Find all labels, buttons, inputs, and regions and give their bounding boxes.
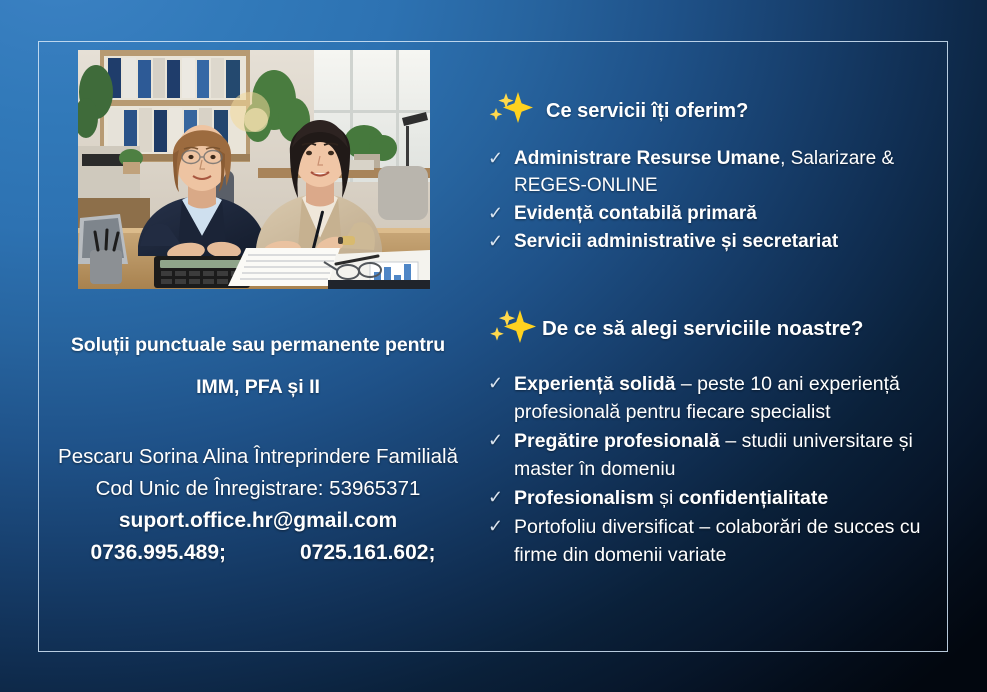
bullet-text: Servicii administrative și secretariat	[514, 228, 948, 255]
company-name: Pescaru Sorina Alina Întreprindere Famil…	[38, 441, 478, 473]
bullet-bold-2: confidențialitate	[679, 487, 829, 509]
services-heading-row: Ce servicii îți oferim?	[488, 91, 948, 131]
bullet-text: Experiență solidă – peste 10 ani experie…	[514, 370, 948, 426]
services-section: Ce servicii îți oferim? ✓ Administrare R…	[488, 91, 948, 256]
bullet-regular: Portofoliu diversificat – colaborări de …	[514, 516, 920, 566]
list-item: ✓ Profesionalism și confidențialitate	[488, 484, 948, 512]
check-icon: ✓	[488, 228, 505, 255]
why-heading-row: De ce să alegi serviciile noastre?	[488, 306, 948, 352]
services-heading-text: Ce servicii îți oferim?	[546, 100, 748, 123]
phone-number-2[interactable]: 0725.161.602;	[300, 537, 435, 569]
bullet-bold: Pregătire profesională	[514, 430, 720, 452]
bullet-text: Portofoliu diversificat – colaborări de …	[514, 513, 948, 569]
sparkles-icon	[488, 306, 540, 352]
why-heading-text: De ce să alegi serviciile noastre?	[542, 317, 863, 341]
bullet-text: Pregătire profesională – studii universi…	[514, 427, 948, 483]
bullet-bold: Administrare Resurse Umane	[514, 148, 780, 169]
check-icon: ✓	[488, 370, 505, 397]
right-column: Ce servicii îți oferim? ✓ Administrare R…	[488, 41, 948, 652]
bullet-text: Evidență contabilă primară	[514, 200, 948, 227]
bullet-text: Profesionalism și confidențialitate	[514, 484, 948, 512]
slide-canvas: Soluții punctuale sau permanente pentru …	[0, 0, 987, 692]
list-item: ✓ Evidență contabilă primară	[488, 200, 948, 227]
check-icon: ✓	[488, 145, 505, 172]
bullet-mid: și	[654, 487, 679, 509]
tagline-line-1: Soluții punctuale sau permanente pentru	[38, 334, 478, 357]
list-item: ✓ Administrare Resurse Umane, Salarizare…	[488, 145, 948, 199]
why-choose-section: De ce să alegi serviciile noastre? ✓ Exp…	[488, 306, 948, 570]
bullet-bold: Servicii administrative și secretariat	[514, 231, 838, 252]
left-column: Soluții punctuale sau permanente pentru …	[38, 41, 478, 652]
tagline-line-2: IMM, PFA și II	[38, 376, 478, 399]
registration-number: Cod Unic de Înregistrare: 53965371	[38, 473, 478, 505]
bullet-bold: Evidență contabilă primară	[514, 203, 757, 224]
sparkles-icon	[488, 91, 540, 131]
list-item: ✓ Pregătire profesională – studii univer…	[488, 427, 948, 483]
team-photo	[78, 50, 430, 289]
check-icon: ✓	[488, 200, 505, 227]
check-icon: ✓	[488, 427, 505, 454]
bullet-text: Administrare Resurse Umane, Salarizare &…	[514, 145, 948, 199]
bullet-bold: Profesionalism	[514, 487, 654, 509]
phone-number-1[interactable]: 0736.995.489;	[91, 537, 226, 569]
check-icon: ✓	[488, 484, 505, 511]
why-bullet-list: ✓ Experiență solidă – peste 10 ani exper…	[488, 370, 948, 569]
bullet-bold: Experiență solidă	[514, 373, 675, 395]
list-item: ✓ Experiență solidă – peste 10 ani exper…	[488, 370, 948, 426]
list-item: ✓ Portofoliu diversificat – colaborări d…	[488, 513, 948, 569]
contact-block: Pescaru Sorina Alina Întreprindere Famil…	[38, 441, 478, 569]
list-item: ✓ Servicii administrative și secretariat	[488, 228, 948, 255]
check-icon: ✓	[488, 513, 505, 540]
email-address[interactable]: suport.office.hr@gmail.com	[38, 505, 478, 537]
phone-numbers: 0736.995.489; 0725.161.602;	[38, 537, 478, 569]
services-bullet-list: ✓ Administrare Resurse Umane, Salarizare…	[488, 145, 948, 255]
